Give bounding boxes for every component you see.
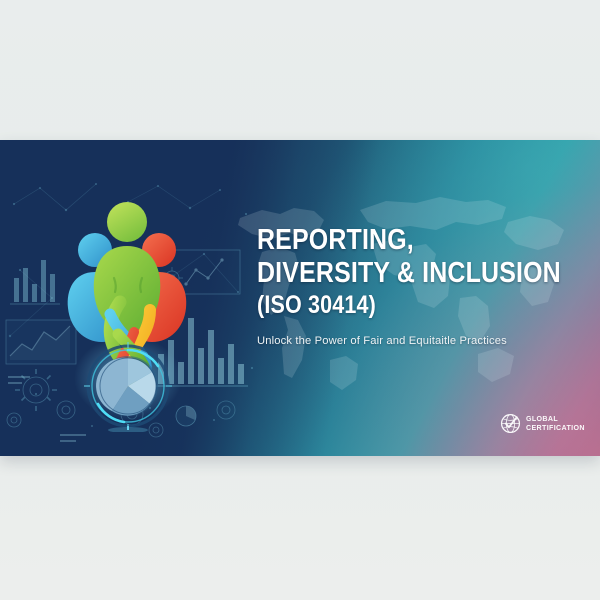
global-certification-logo: GLOBAL CERTIFICATION: [500, 413, 585, 434]
title-line-3: (ISO 30414): [257, 290, 541, 321]
title-line-2: DIVERSITY & INCLUSION: [257, 257, 541, 290]
banner-subtitle: Unlock the Power of Fair and Equitaitle …: [257, 334, 587, 349]
diversity-people-analytics-illustration: [58, 182, 198, 432]
logo-text-line-1: GLOBAL: [526, 415, 585, 423]
logo-text-block: GLOBAL CERTIFICATION: [526, 415, 585, 432]
banner-text-block: REPORTING, DIVERSITY & INCLUSION (ISO 30…: [257, 224, 587, 349]
logo-text-line-2: CERTIFICATION: [526, 424, 585, 432]
globe-check-icon: [500, 413, 521, 434]
promotional-banner: REPORTING, DIVERSITY & INCLUSION (ISO 30…: [0, 140, 600, 456]
title-line-1: REPORTING,: [257, 224, 541, 257]
